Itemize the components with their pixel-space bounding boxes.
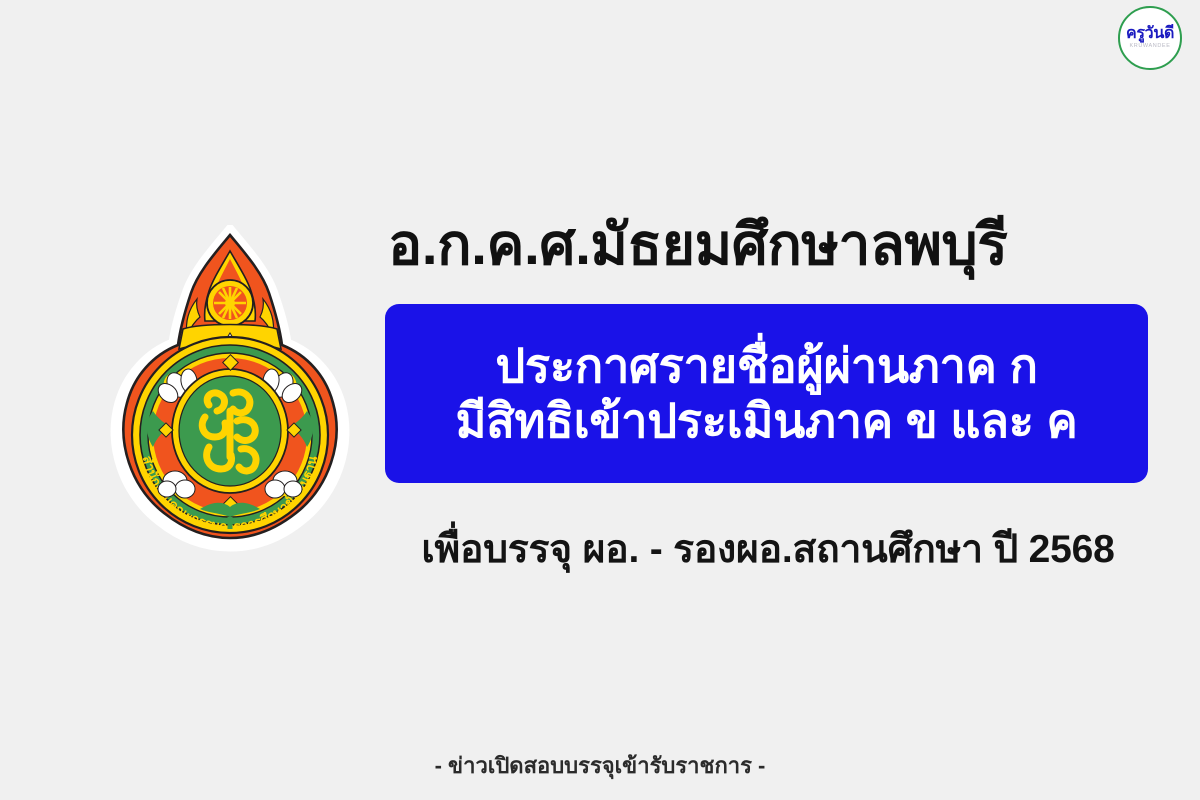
brand-logo-subtitle: KRUWANDEE bbox=[1130, 44, 1171, 50]
footer-note: - ข่าวเปิดสอบบรรจุเข้ารับราชการ - bbox=[0, 748, 1200, 783]
announcement-line-1: ประกาศรายชื่อผู้ผ่านภาค ก bbox=[495, 340, 1037, 393]
page-title: อ.ก.ค.ศ.มัธยมศึกษาลพบุรี bbox=[388, 215, 1160, 277]
brand-logo-name: ครูวันดี bbox=[1126, 26, 1174, 42]
brand-logo: ครูวันดี KRUWANDEE bbox=[1118, 6, 1182, 70]
announcement-highlight-box: ประกาศรายชื่อผู้ผ่านภาค ก มีสิทธิเข้าประ… bbox=[385, 304, 1148, 483]
announcement-line-2: มีสิทธิเข้าประเมินภาค ข และ ค bbox=[455, 395, 1077, 448]
page-subtitle: เพื่อบรรจุ ผอ. - รองผอ.สถานศึกษา ปี 2568 bbox=[388, 518, 1148, 580]
obec-emblem: สำนักงานคณะกรรมการการศึกษาขั้นพื้นฐาน bbox=[105, 225, 355, 560]
